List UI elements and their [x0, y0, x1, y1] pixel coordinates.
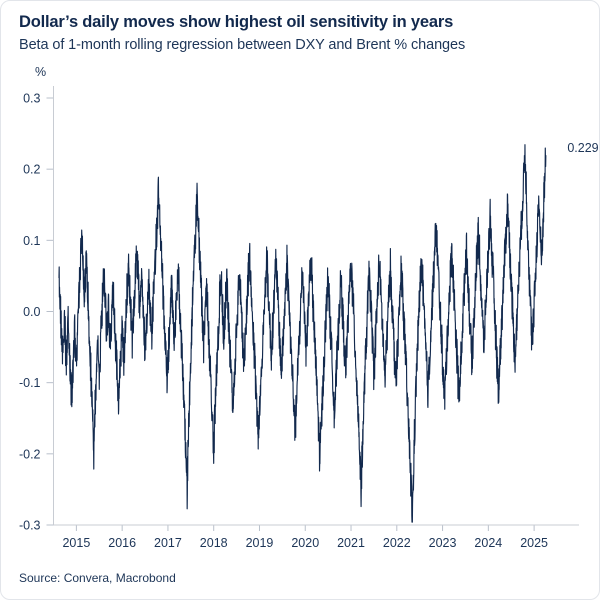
y-axis-ticks: 0.30.20.10.0-0.1-0.2-0.3	[19, 92, 54, 533]
chart-plot-area: 0.30.20.10.0-0.1-0.2-0.3 201520162017201…	[1, 1, 600, 600]
y-tick-label: -0.3	[19, 519, 41, 533]
x-tick-label: 2019	[246, 536, 274, 550]
source-note: Source: Convera, Macrobond	[19, 571, 176, 585]
x-tick-label: 2017	[154, 536, 182, 550]
x-tick-label: 2018	[200, 536, 228, 550]
last-value-annotation: 0.229	[567, 141, 598, 155]
y-tick-label: -0.1	[19, 376, 41, 390]
x-tick-label: 2023	[429, 536, 457, 550]
x-tick-label: 2021	[337, 536, 365, 550]
chart-figure: Dollar’s daily moves show highest oil se…	[0, 0, 600, 600]
y-tick-label: 0.2	[23, 163, 40, 177]
x-tick-label: 2016	[108, 536, 136, 550]
series-group	[59, 145, 546, 522]
y-tick-label: 0.1	[23, 234, 40, 248]
x-tick-label: 2015	[62, 536, 90, 550]
x-tick-label: 2024	[474, 536, 502, 550]
x-tick-label: 2025	[520, 536, 548, 550]
x-tick-label: 2022	[383, 536, 411, 550]
y-tick-label: 0.0	[23, 305, 40, 319]
x-axis-ticks: 2015201620172018201920202021202220232024…	[62, 525, 548, 550]
y-tick-label: 0.3	[23, 92, 40, 106]
series-line	[59, 145, 546, 522]
x-tick-label: 2020	[291, 536, 319, 550]
y-tick-label: -0.2	[19, 447, 41, 461]
